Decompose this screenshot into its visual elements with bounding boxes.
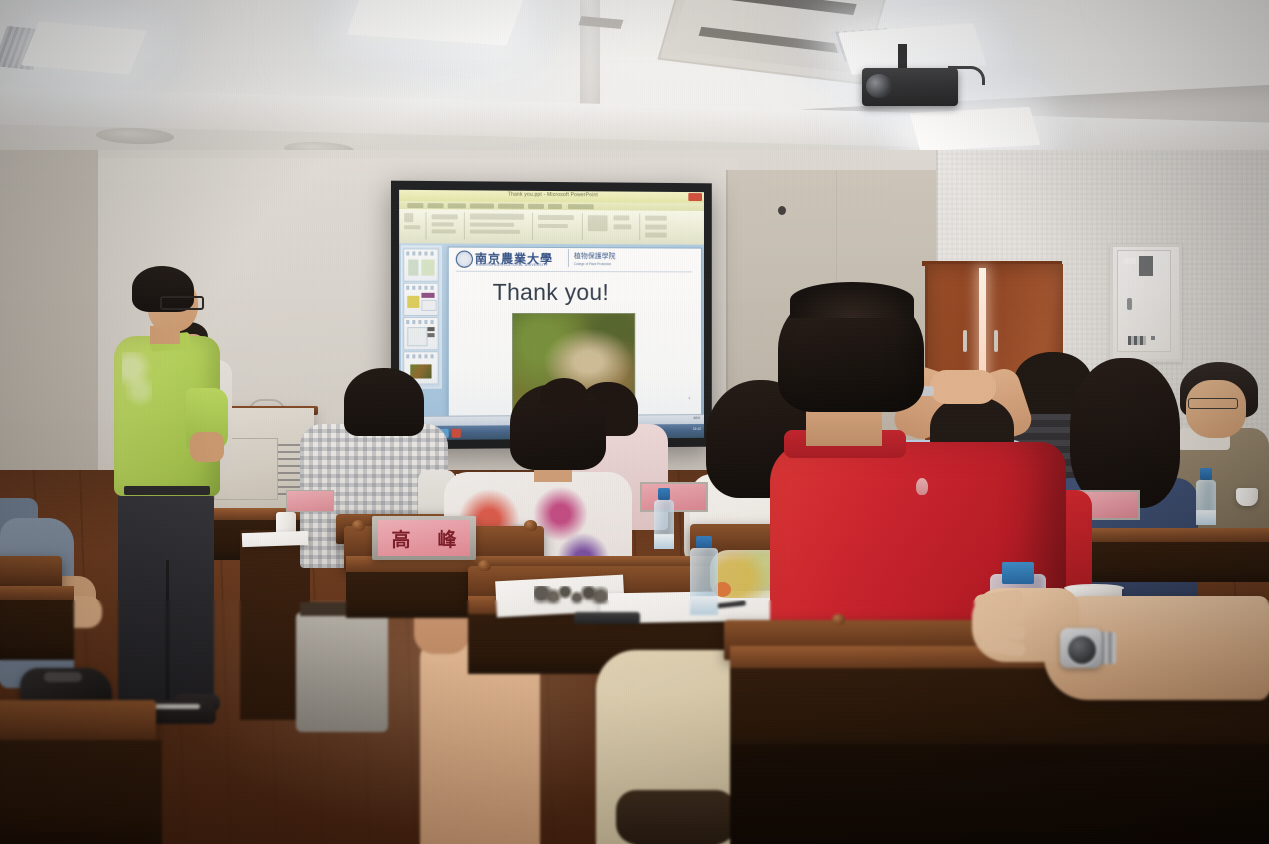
legs <box>296 612 388 732</box>
bottle-body <box>654 500 674 544</box>
name-placard <box>640 482 708 512</box>
ceiling-light-panel <box>910 107 1041 151</box>
bottle-body <box>690 548 718 612</box>
scattered-specimens <box>534 586 608 604</box>
belt <box>124 486 210 495</box>
water-bottle[interactable] <box>1196 468 1216 520</box>
slide-title-text: Thank you! <box>399 279 700 306</box>
ribbon-toolbar[interactable] <box>399 209 704 246</box>
bottle-cap[interactable] <box>1200 468 1211 480</box>
leg-seam <box>166 560 169 706</box>
department-name-cn: 植物保護學院 <box>574 251 616 261</box>
tab-review[interactable] <box>528 203 544 208</box>
slide-page-number: 4 <box>688 396 690 400</box>
tab-addins[interactable] <box>568 204 594 209</box>
hair-bun <box>540 378 588 414</box>
tab-animations[interactable] <box>470 203 494 208</box>
bottle-label <box>690 596 718 615</box>
university-seal-icon <box>456 251 473 268</box>
paragraph-row[interactable] <box>470 230 520 234</box>
desk-row-4-shadow <box>730 744 1269 844</box>
face <box>1186 380 1246 438</box>
name-placard <box>286 490 334 512</box>
font-style-row[interactable] <box>470 223 514 227</box>
department-name-en: College of Plant Protection <box>574 262 611 266</box>
ribbon-separator <box>464 212 465 239</box>
powerpoint-icon[interactable] <box>452 428 461 437</box>
taskbar-clock[interactable]: 15:42 <box>693 427 701 431</box>
bullets-row[interactable] <box>538 224 568 228</box>
tab-slideshow[interactable] <box>498 203 524 208</box>
panel-meter-icon <box>1139 256 1153 276</box>
bottle-body <box>1196 480 1216 520</box>
watch-face-icon <box>1066 634 1098 666</box>
zoom-level[interactable]: 66% <box>693 416 700 420</box>
window-title: Thank you.ppt - Microsoft PowerPoint <box>508 192 598 199</box>
door-handle[interactable] <box>994 330 998 352</box>
panel-label-sticker <box>1124 258 1136 264</box>
water-bottle[interactable] <box>654 488 674 544</box>
door-handle[interactable] <box>963 330 967 352</box>
panel-latch-icon[interactable] <box>1127 298 1132 310</box>
desk-row-2-far-right-front <box>1076 542 1269 582</box>
bottle-cap[interactable] <box>658 488 669 500</box>
hair-top <box>790 282 914 318</box>
bench-knob <box>478 560 491 571</box>
finger <box>972 607 1026 624</box>
wall-sensor-icon <box>778 206 786 215</box>
clipboard-row[interactable] <box>404 225 420 229</box>
desk-left-1-front <box>0 600 74 660</box>
thumbnail-figure <box>421 260 434 276</box>
thumbnail-header <box>406 354 435 358</box>
slide-thumbnail[interactable] <box>403 248 438 281</box>
panel-switch-icon[interactable] <box>1128 336 1146 345</box>
paste-icon[interactable] <box>404 213 413 222</box>
thumbnail-figure <box>427 327 434 331</box>
font-name-box[interactable] <box>470 213 524 219</box>
hand <box>930 370 996 404</box>
thumbnail-figure <box>427 333 434 337</box>
university-name-en: NANJING AGRICULTURAL UNIVERSITY <box>476 263 548 267</box>
thumbnail-header <box>406 251 435 255</box>
shapes-gallery[interactable] <box>588 215 608 231</box>
replace-button[interactable] <box>645 225 667 230</box>
layout-button[interactable] <box>432 222 454 226</box>
placard-char-1: 高 <box>391 525 410 552</box>
ribbon-separator <box>425 212 426 239</box>
desk-left-2-front <box>0 740 162 844</box>
hair <box>344 368 424 436</box>
bench-knob <box>352 520 365 531</box>
bottle-label <box>1196 510 1216 525</box>
tab-home[interactable] <box>407 202 423 207</box>
align-row[interactable] <box>538 215 574 220</box>
hair <box>1070 358 1180 508</box>
shirt-logo-icon <box>916 478 928 495</box>
projector-lens-icon <box>866 74 892 98</box>
logo-divider <box>568 249 569 267</box>
projector-cable <box>948 66 985 85</box>
tab-view[interactable] <box>548 203 562 208</box>
paper-cup[interactable] <box>1236 488 1258 506</box>
wall-panel-left <box>0 150 98 480</box>
glasses-icon <box>160 296 204 310</box>
glasses-icon <box>1188 398 1238 409</box>
shirt-print <box>122 352 152 416</box>
bottle-label <box>654 534 674 549</box>
water-bottle[interactable] <box>690 536 718 612</box>
tab-insert[interactable] <box>427 203 443 208</box>
slide-thumbnail[interactable] <box>403 317 438 350</box>
thumbnail-figure <box>408 260 418 276</box>
close-icon[interactable] <box>688 193 702 201</box>
document-sheet[interactable] <box>242 531 308 547</box>
bench-knob <box>832 614 845 625</box>
bottle-cap[interactable] <box>696 536 712 548</box>
thumbnail-figure <box>407 327 427 346</box>
new-slide-button[interactable] <box>432 214 458 219</box>
name-placard-text: 高 峰 <box>378 521 470 555</box>
crossed-arms <box>190 432 224 462</box>
bench-knob <box>524 520 537 531</box>
placard-char-2: 峰 <box>437 525 456 552</box>
shoe-highlight <box>44 672 82 682</box>
ribbon-separator <box>639 214 640 241</box>
select-button[interactable] <box>645 232 667 237</box>
mobile-phone[interactable] <box>574 612 640 624</box>
ceiling-light-panel <box>21 21 147 74</box>
tab-design[interactable] <box>448 203 466 208</box>
panel-indicator-icon <box>1151 336 1155 340</box>
quickstyles-button[interactable] <box>614 224 632 229</box>
lecture-room-photo: Thank you.ppt - Microsoft PowerPoint <box>0 0 1269 844</box>
ribbon-separator <box>532 213 533 240</box>
find-button[interactable] <box>645 216 667 221</box>
ribbon-separator <box>582 213 583 240</box>
reset-button[interactable] <box>432 229 456 233</box>
knee <box>616 790 736 844</box>
arrange-button[interactable] <box>614 215 630 220</box>
thumbnail-header <box>406 320 435 324</box>
sandal-strap <box>152 704 200 709</box>
thumbnail-figure <box>410 364 431 378</box>
bottle-cap[interactable] <box>1002 562 1033 584</box>
bench-left-1 <box>0 556 62 590</box>
